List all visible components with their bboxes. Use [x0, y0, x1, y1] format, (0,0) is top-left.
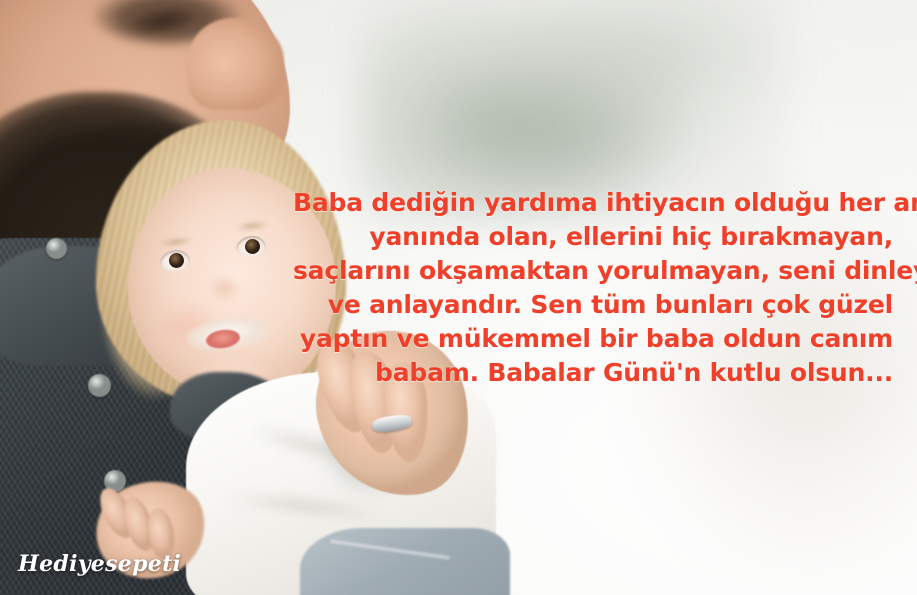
cardigan-button — [46, 238, 67, 259]
quote-line-5: yaptın ve mükemmel bir baba oldun canım — [293, 322, 893, 356]
child-jeans — [300, 528, 510, 595]
watermark-logo: Hediyesepeti — [18, 551, 181, 577]
quote-line-1: Baba dediğin yardıma ihtiyacın olduğu he… — [293, 186, 893, 220]
quote-line-4: ve anlayandır. Sen tüm bunları çok güzel — [293, 288, 893, 322]
child-iris-right — [245, 239, 260, 254]
child-iris-left — [169, 253, 184, 268]
father-nose — [188, 18, 284, 110]
quote-line-3: saçlarını okşamaktan yorulmayan, seni di… — [293, 254, 893, 288]
quote-line-6: babam. Babalar Günü'n kutlu olsun... — [293, 356, 893, 390]
quote-line-2: yanında olan, ellerini hiç bırakmayan, — [293, 220, 893, 254]
greeting-card-image: Baba dediğin yardıma ihtiyacın olduğu he… — [0, 0, 917, 595]
quote-text-block: Baba dediğin yardıma ihtiyacın olduğu he… — [293, 186, 893, 390]
child-nose — [206, 272, 248, 306]
